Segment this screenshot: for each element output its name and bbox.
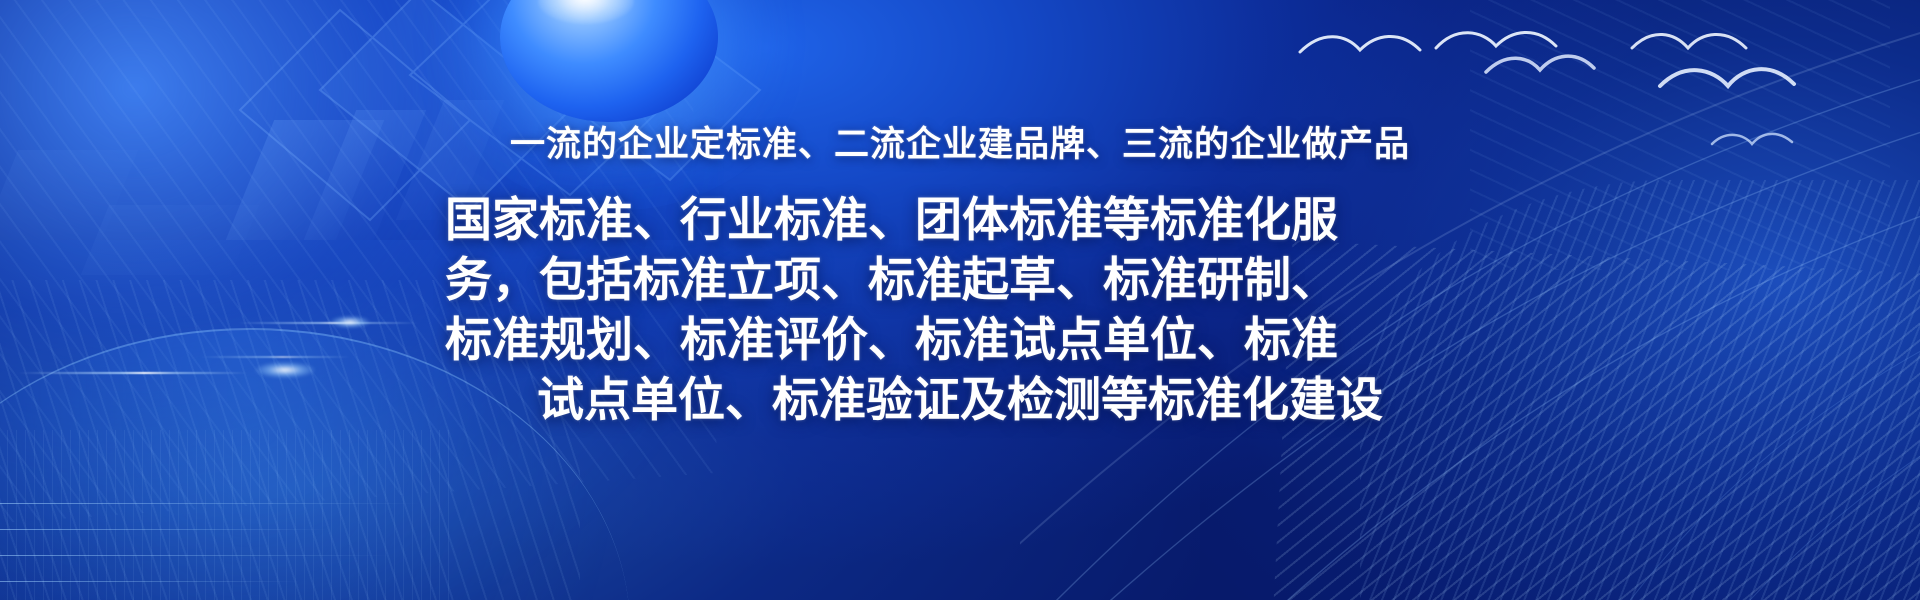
plate-shape-5 — [81, 205, 259, 275]
banner-headline: 一流的企业定标准、二流企业建品牌、三流的企业做产品 — [0, 116, 1920, 167]
light-streak-1 — [18, 372, 248, 374]
seagull-icon-2 — [1436, 32, 1556, 48]
light-streak-2 — [238, 322, 418, 324]
horizontal-line-4 — [0, 581, 300, 582]
horizontal-line-3 — [0, 555, 390, 556]
banner-body-text: 国家标准、行业标准、团体标准等标准化服 务，包括标准立项、标准起草、标准研制、 … — [445, 190, 1475, 430]
seagull-icon-4 — [1632, 34, 1746, 48]
seagull-icon-1 — [1300, 36, 1420, 52]
body-line-3: 标准规划、标准评价、标准试点单位、标准 — [445, 310, 1475, 370]
body-line-4: 试点单位、标准验证及检测等标准化建设 — [445, 370, 1475, 430]
promo-banner: 一流的企业定标准、二流企业建品牌、三流的企业做产品 国家标准、行业标准、团体标准… — [0, 0, 1920, 600]
horizontal-line-2 — [0, 529, 330, 530]
body-line-2: 务，包括标准立项、标准起草、标准研制、 — [445, 250, 1475, 310]
light-streak-3 — [200, 356, 350, 358]
body-line-1: 国家标准、行业标准、团体标准等标准化服 — [445, 190, 1475, 250]
flare-dot-2 — [330, 316, 370, 328]
seagull-icon-5 — [1660, 69, 1794, 86]
flare-dot-1 — [255, 362, 315, 378]
horizontal-line-1 — [0, 503, 420, 504]
hatch-band-bottom-left — [0, 430, 450, 600]
seagull-icon-3 — [1486, 56, 1594, 72]
